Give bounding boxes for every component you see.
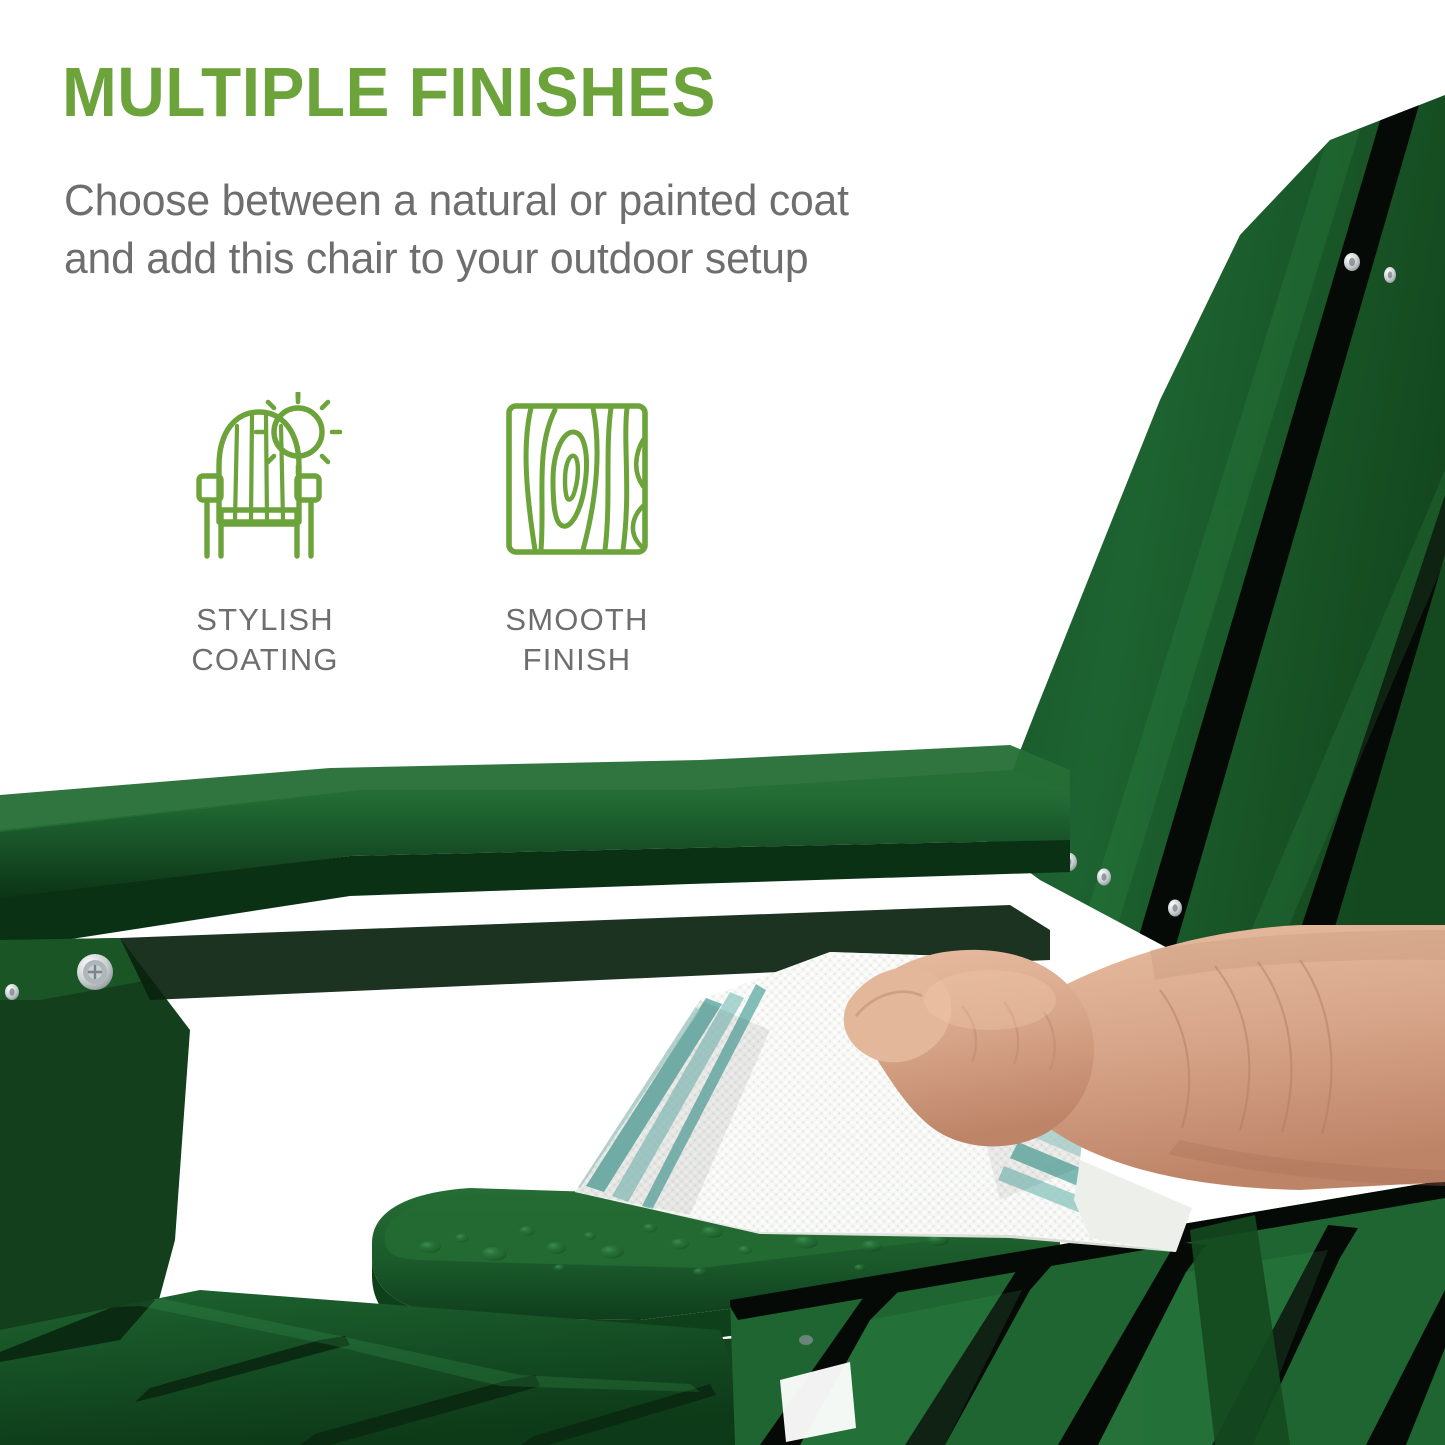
feature-label-line-2: FINISH	[505, 640, 648, 680]
page-title: MULTIPLE FINISHES	[62, 56, 716, 130]
feature-label-line-1: SMOOTH	[505, 600, 648, 640]
feature-label: SMOOTH FINISH	[505, 600, 648, 679]
wood-grain-icon	[501, 378, 653, 578]
feature-stylish-coating: STYLISH COATING	[170, 378, 360, 679]
screw-icon	[799, 1335, 813, 1345]
subtitle-line-1: Choose between a natural or painted coat	[64, 172, 849, 230]
page-subtitle: Choose between a natural or painted coat…	[64, 172, 849, 288]
product-feature-graphic: MULTIPLE FINISHES Choose between a natur…	[0, 0, 1445, 1445]
feature-list: STYLISH COATING	[170, 378, 672, 679]
chair-sun-icon	[185, 378, 345, 578]
armrest-bolt	[77, 954, 113, 990]
feature-label-line-2: COATING	[191, 640, 338, 680]
left-small-screw	[5, 984, 19, 1000]
feature-smooth-finish: SMOOTH FINISH	[482, 378, 672, 679]
subtitle-line-2: and add this chair to your outdoor setup	[64, 230, 849, 288]
feature-label-line-1: STYLISH	[191, 600, 338, 640]
feature-label: STYLISH COATING	[191, 600, 338, 679]
